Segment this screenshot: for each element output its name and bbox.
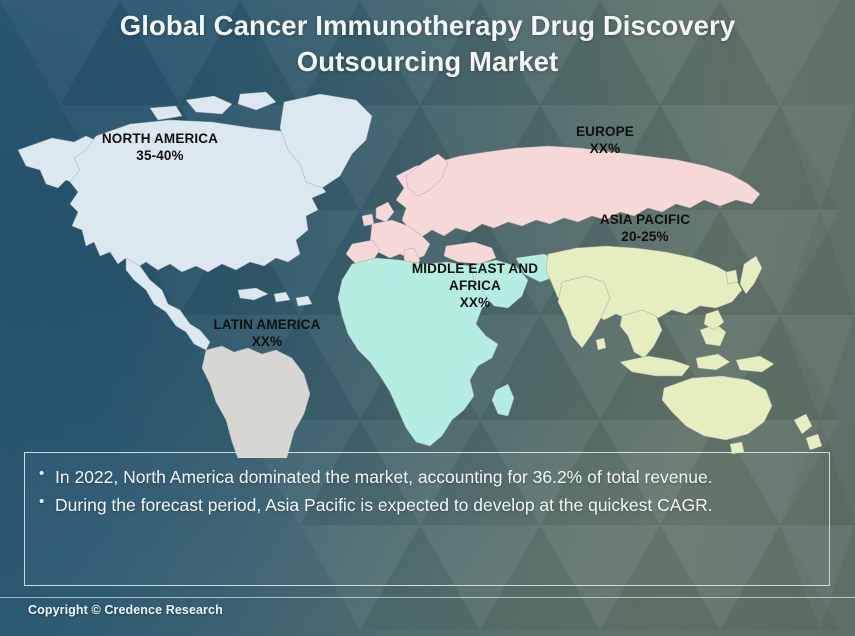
map-region-asia-pacific: [546, 246, 822, 454]
infographic-slide: Global Cancer Immunotherapy Drug Discove…: [0, 0, 855, 636]
title-line-2: Outsourcing Market: [0, 44, 855, 80]
list-item: During the forecast period, Asia Pacific…: [55, 492, 813, 519]
region-label-latin-america: LATIN AMERICA XX%: [182, 316, 352, 350]
list-item: In 2022, North America dominated the mar…: [55, 464, 813, 491]
region-label-north-america: NORTH AMERICA 35-40%: [60, 130, 260, 164]
bullet-text-2: During the forecast period, Asia Pacific…: [55, 492, 813, 519]
key-findings-list: In 2022, North America dominated the mar…: [25, 453, 829, 518]
page-title: Global Cancer Immunotherapy Drug Discove…: [0, 8, 855, 81]
world-map: [0, 58, 855, 458]
map-region-latin-america: [202, 346, 310, 458]
title-line-1: Global Cancer Immunotherapy Drug Discove…: [0, 8, 855, 44]
copyright-text: Copyright © Credence Research: [28, 603, 223, 617]
key-findings-box: In 2022, North America dominated the mar…: [24, 452, 830, 586]
bullet-text-1: In 2022, North America dominated the mar…: [55, 464, 813, 491]
region-label-europe: EUROPE XX%: [520, 123, 690, 157]
region-label-asia-pacific: ASIA PACIFIC 20-25%: [565, 211, 725, 245]
footer-divider: [0, 597, 855, 598]
region-label-middle-east-africa: MIDDLE EAST AND AFRICA XX%: [393, 260, 557, 311]
